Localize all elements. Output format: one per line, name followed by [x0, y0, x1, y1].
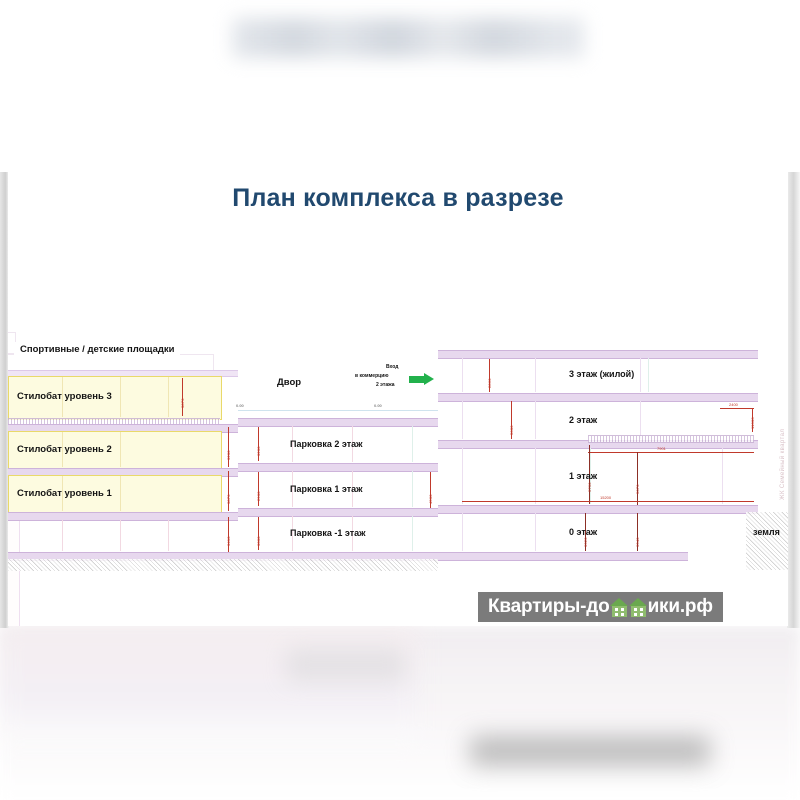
- dimension-label: 2860: [487, 378, 492, 388]
- courtyard-grade-line: [238, 410, 438, 411]
- dimension-label: 5070: [635, 484, 640, 494]
- dimension-line: [182, 378, 183, 416]
- dimension-label: 2900: [256, 491, 261, 501]
- ground-hatch-right: [746, 512, 788, 570]
- section-drawing: 3870 3200 3870 3410 0.00 0.00: [8, 332, 788, 582]
- label-courtyard: Двор: [277, 377, 301, 388]
- grid-line: [648, 358, 649, 392]
- label-floor-3: 3 этаж (жилой): [569, 369, 634, 379]
- slab-floor-0: [438, 552, 688, 561]
- elevation-mark-mid: 0.00: [374, 403, 382, 409]
- dimension-label: 2400: [729, 402, 738, 407]
- dimension-line: [228, 471, 229, 511]
- blurred-page-text-left: [286, 648, 406, 682]
- grid-line: [120, 432, 121, 467]
- label-stylobate-1: Стилобат уровень 1: [17, 488, 112, 499]
- grid-line: [412, 426, 413, 462]
- label-stylobate-2: Стилобат уровень 2: [17, 444, 112, 455]
- grid-line: [535, 358, 536, 392]
- grid-line: [462, 401, 463, 439]
- label-parking-2: Парковка 2 этаж: [290, 439, 363, 449]
- slide-edge-right: [787, 172, 800, 628]
- slab-floor-1: [438, 505, 758, 514]
- side-note-vertical: ЖК Семейный квартал: [780, 429, 786, 500]
- slab-floor-3: [438, 393, 758, 402]
- grid-line: [412, 471, 413, 507]
- entrance-arrow-icon: [409, 373, 435, 386]
- dimension-line: [720, 408, 754, 409]
- slide-card: План комплекса в разрезе 3870: [8, 172, 788, 626]
- grid-line: [535, 513, 536, 551]
- grid-line: [535, 401, 536, 439]
- grid-line: [62, 520, 63, 551]
- grid-line: [168, 377, 169, 417]
- grid-line: [462, 513, 463, 551]
- slab-roof: [438, 350, 758, 359]
- slab-stylobate-1: [8, 512, 238, 521]
- label-parking-minus1: Парковка -1 этаж: [290, 528, 366, 538]
- dimension-label: 3410: [226, 536, 231, 546]
- grid-line: [120, 476, 121, 511]
- house-icon: [610, 598, 629, 617]
- label-commerce-entrance-line3: 2 этажа: [376, 382, 394, 389]
- grid-line: [168, 520, 169, 551]
- grid-line: [412, 516, 413, 551]
- grid-line: [640, 358, 641, 392]
- watermark-suffix: ики.рф: [648, 596, 713, 618]
- dimension-line: [462, 501, 754, 502]
- dimension-label: 3870: [180, 398, 185, 408]
- watermark-prefix: Квартиры-до: [488, 596, 610, 618]
- dimension-line: [228, 517, 229, 552]
- label-floor-2: 2 этаж: [569, 415, 597, 425]
- ground-hatch-left: [8, 559, 438, 571]
- dimension-label: 3320: [583, 537, 588, 547]
- label-floor-1: 1 этаж: [569, 471, 597, 481]
- dimension-label: 5000: [509, 425, 514, 435]
- slab-parking-2: [238, 463, 438, 472]
- page-title: План комплекса в разрезе: [8, 184, 788, 213]
- blurred-page-text-right: [470, 736, 710, 766]
- grid-line: [462, 358, 463, 392]
- dimension-label: 15200: [600, 495, 611, 500]
- grid-line: [640, 401, 641, 439]
- slab-parking-1: [238, 508, 438, 517]
- label-playgrounds: Спортивные / детские площадки: [14, 342, 180, 357]
- dimension-label: 5730: [587, 482, 592, 492]
- dimension-label: 3200: [256, 446, 261, 456]
- blurred-page-bottom-left: [0, 626, 420, 746]
- grid-line: [120, 377, 121, 417]
- grid-line: [535, 448, 536, 504]
- label-stylobate-3: Стилобат уровень 3: [17, 391, 112, 402]
- watermark: Квартиры-до ики.рф: [478, 592, 723, 622]
- label-ground: земля: [753, 527, 780, 537]
- dimension-label: 3200: [226, 450, 231, 460]
- dimension-line: [228, 427, 229, 467]
- label-parking-1: Парковка 1 этаж: [290, 484, 363, 494]
- terrace-gravel-band: [588, 435, 754, 443]
- dimension-line: [588, 452, 754, 453]
- label-commerce-entrance-line1: Вход: [386, 364, 398, 371]
- grid-line: [120, 520, 121, 551]
- blurred-page-heading: [232, 18, 584, 58]
- grid-line: [462, 448, 463, 504]
- dimension-label: 4500: [428, 494, 433, 504]
- dimension-label: 3000: [256, 536, 261, 546]
- dimension-label: 3870: [226, 494, 231, 504]
- dimension-label: 3340: [635, 537, 640, 547]
- house-icon: [629, 598, 648, 617]
- dimension-label: 11000: [750, 417, 755, 429]
- slab-courtyard: [238, 418, 438, 427]
- label-floor-0: 0 этаж: [569, 527, 597, 537]
- dimension-label: 7901: [657, 446, 666, 451]
- elevation-mark-left: 0.00: [236, 403, 244, 409]
- label-commerce-entrance-line2: в коммерцию: [355, 373, 389, 380]
- grid-line: [722, 448, 723, 504]
